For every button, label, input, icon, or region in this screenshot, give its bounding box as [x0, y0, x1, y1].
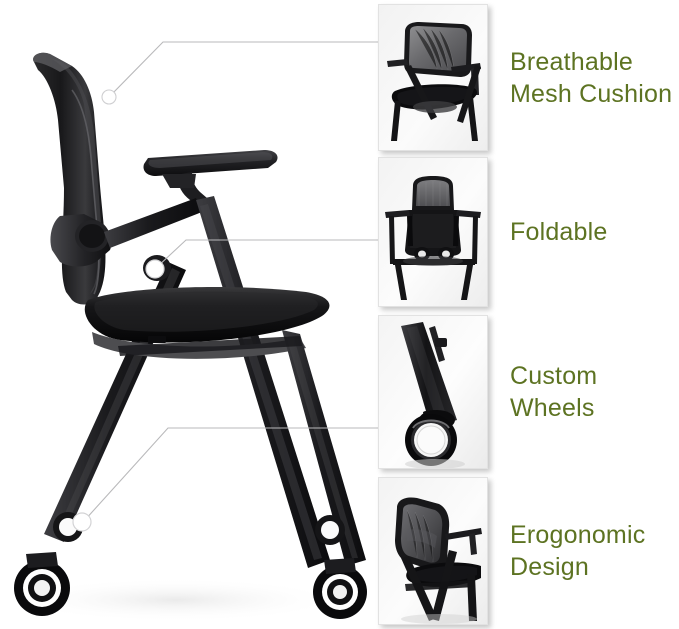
- feature-thumbnail-foldable[interactable]: [378, 157, 488, 307]
- feature-thumbnail-custom-wheels[interactable]: [378, 315, 488, 469]
- feature-caption-custom-wheels: Custom Wheels: [488, 360, 679, 424]
- feature-row-custom-wheels: Custom Wheels: [378, 316, 679, 468]
- infographic-canvas: Breathable Mesh Cushion: [0, 0, 679, 629]
- feature-row-foldable: Foldable: [378, 158, 679, 306]
- feature-caption-erogonomic-design: Erogonomic Design: [488, 519, 679, 583]
- feature-thumbnail-breathable-mesh-cushion[interactable]: [378, 4, 488, 151]
- feature-thumbnail-erogonomic-design[interactable]: [378, 477, 488, 625]
- feature-caption-foldable: Foldable: [488, 216, 679, 248]
- feature-row-erogonomic-design: Erogonomic Design: [378, 478, 679, 624]
- feature-row-breathable-mesh-cushion: Breathable Mesh Cushion: [378, 5, 679, 150]
- hero-product-image: [0, 0, 372, 629]
- feature-caption-breathable-mesh-cushion: Breathable Mesh Cushion: [488, 46, 679, 110]
